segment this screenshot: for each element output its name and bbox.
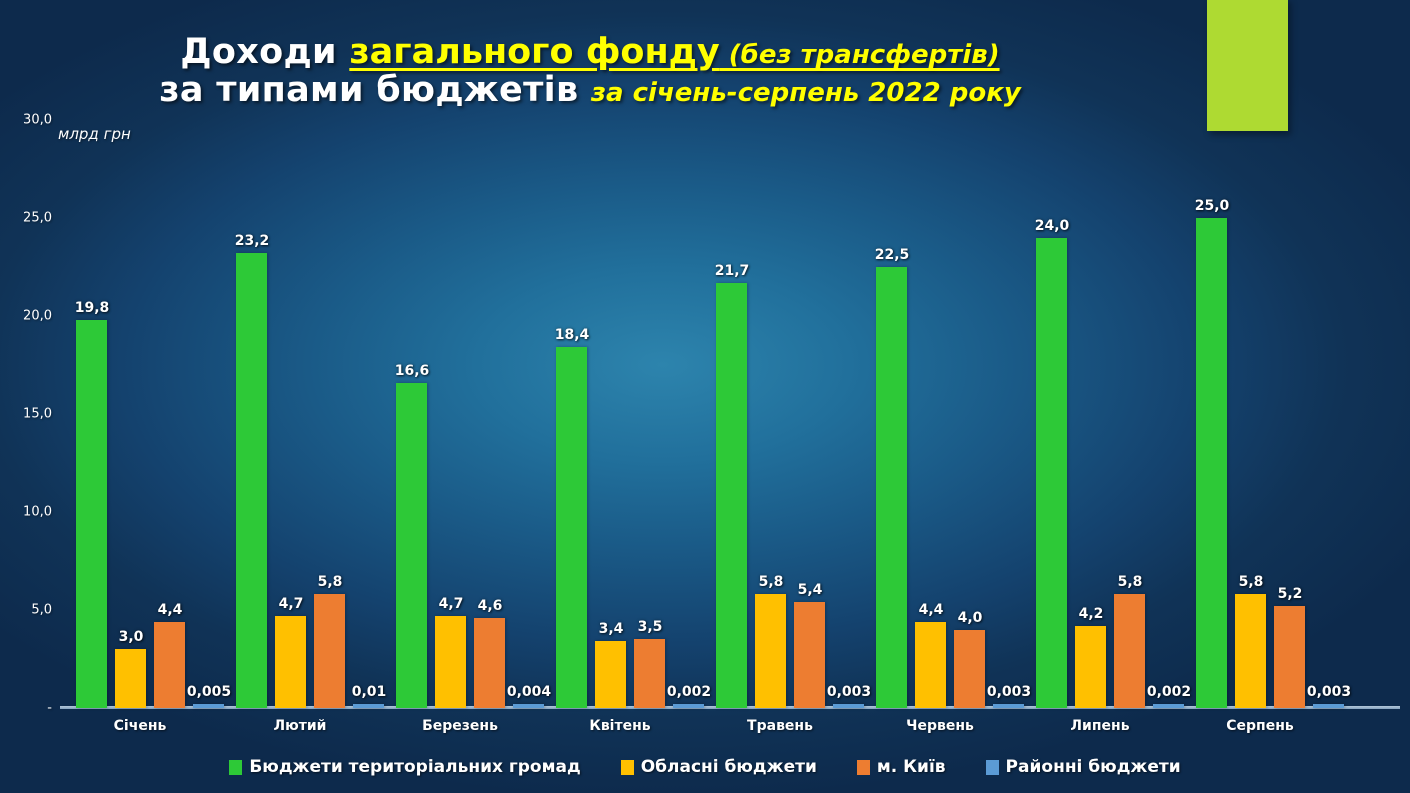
y-axis-tick-label: - — [47, 701, 52, 716]
bar-hromady[interactable] — [876, 267, 907, 708]
bar-value-label: 23,2 — [212, 233, 292, 249]
bar-value-label: 19,8 — [52, 300, 132, 316]
bar-hromady[interactable] — [556, 347, 587, 708]
bar-value-label: 5,4 — [770, 582, 850, 598]
x-axis-label-8: Серпень — [1180, 718, 1340, 734]
legend-label: м. Київ — [877, 757, 946, 777]
bar-group: 25,05,85,20,003 — [1190, 120, 1350, 708]
bar-value-label: 22,5 — [852, 247, 932, 263]
bar-raionni[interactable] — [513, 704, 544, 708]
legend-item-3[interactable]: м. Київ — [857, 757, 946, 777]
bar-oblasni[interactable] — [275, 616, 306, 708]
bar-value-label: 3,5 — [610, 619, 690, 635]
bar-raionni[interactable] — [993, 704, 1024, 708]
x-axis-label-7: Липень — [1020, 718, 1180, 734]
title-text-primary: Доходи — [180, 32, 349, 72]
legend-swatch-icon — [229, 760, 242, 775]
bar-hromady[interactable] — [236, 253, 267, 708]
slide-canvas: Доходи загального фонду (без трансфертів… — [0, 0, 1410, 793]
bar-raionni[interactable] — [1313, 704, 1344, 708]
bar-group: 23,24,75,80,01 — [230, 120, 390, 708]
legend-label: Обласні бюджети — [641, 757, 817, 777]
bar-raionni[interactable] — [673, 704, 704, 708]
chart-title: Доходи загального фонду (без трансфертів… — [0, 34, 1180, 110]
bar-value-label: 21,7 — [692, 263, 772, 279]
x-axis-label-4: Квітень — [540, 718, 700, 734]
legend-swatch-icon — [986, 760, 999, 775]
bar-value-label: 5,8 — [1090, 574, 1170, 590]
plot-area: 19,83,04,40,00523,24,75,80,0116,64,74,60… — [60, 120, 1400, 708]
title-text-note: (без трансфертів) — [720, 40, 1000, 70]
legend-label: Районні бюджети — [1006, 757, 1181, 777]
bar-value-label: 5,8 — [290, 574, 370, 590]
bar-value-label: 18,4 — [532, 327, 612, 343]
bar-oblasni[interactable] — [595, 641, 626, 708]
bar-value-label: 25,0 — [1172, 198, 1252, 214]
bar-value-label: 0,003 — [1289, 684, 1369, 700]
title-text-secondary: за типами бюджетів — [159, 70, 591, 110]
bar-raionni[interactable] — [193, 704, 224, 708]
legend-swatch-icon — [857, 760, 870, 775]
bar-oblasni[interactable] — [915, 622, 946, 708]
legend-label: Бюджети територіальних громад — [249, 757, 580, 777]
bar-value-label: 4,0 — [930, 610, 1010, 626]
legend-item-1[interactable]: Бюджети територіальних громад — [229, 757, 580, 777]
title-line-1: Доходи загального фонду (без трансфертів… — [0, 34, 1180, 72]
x-axis-label-5: Травень — [700, 718, 860, 734]
title-text-period: за січень-серпень 2022 року — [591, 78, 1021, 108]
bar-oblasni[interactable] — [435, 616, 466, 708]
x-axis-label-3: Березень — [380, 718, 540, 734]
bar-hromady[interactable] — [1036, 238, 1067, 708]
bar-oblasni[interactable] — [115, 649, 146, 708]
y-axis-tick-label: 15,0 — [23, 407, 52, 422]
bar-oblasni[interactable] — [1235, 594, 1266, 708]
legend-item-4[interactable]: Районні бюджети — [986, 757, 1181, 777]
bar-oblasni[interactable] — [1075, 626, 1106, 708]
bar-value-label: 5,2 — [1250, 586, 1330, 602]
y-axis-tick-label: 25,0 — [23, 211, 52, 226]
bar-hromady[interactable] — [716, 283, 747, 708]
bar-group: 24,04,25,80,002 — [1030, 120, 1190, 708]
x-axis-label-6: Червень — [860, 718, 1020, 734]
bar-group: 18,43,43,50,002 — [550, 120, 710, 708]
bar-value-label: 4,6 — [450, 598, 530, 614]
bar-hromady[interactable] — [76, 320, 107, 708]
title-text-highlight: загального фонду — [349, 32, 719, 72]
y-axis-tick-label: 20,0 — [23, 309, 52, 324]
bar-group: 21,75,85,40,003 — [710, 120, 870, 708]
bar-hromady[interactable] — [396, 383, 427, 708]
bar-raionni[interactable] — [833, 704, 864, 708]
bar-hromady[interactable] — [1196, 218, 1227, 708]
bar-group: 19,83,04,40,005 — [70, 120, 230, 708]
legend-item-2[interactable]: Обласні бюджети — [621, 757, 817, 777]
bar-raionni[interactable] — [1153, 704, 1184, 708]
chart-legend: Бюджети територіальних громадОбласні бюд… — [0, 757, 1410, 777]
x-axis-label-1: Січень — [60, 718, 220, 734]
bar-value-label: 24,0 — [1012, 218, 1092, 234]
decorative-accent-block — [1207, 0, 1288, 131]
y-axis-tick-label: 10,0 — [23, 505, 52, 520]
bar-oblasni[interactable] — [755, 594, 786, 708]
bar-value-label: 4,4 — [130, 602, 210, 618]
y-axis-tick-label: 5,0 — [31, 603, 52, 618]
bar-raionni[interactable] — [353, 704, 384, 708]
y-axis-tick-label: 30,0 — [23, 113, 52, 128]
y-axis: 30,025,020,015,010,05,0- — [4, 108, 52, 715]
x-axis-category-labels: СіченьЛютийБерезеньКвітеньТравеньЧервень… — [60, 718, 1400, 746]
legend-swatch-icon — [621, 760, 634, 775]
x-axis-label-2: Лютий — [220, 718, 380, 734]
bar-group: 22,54,44,00,003 — [870, 120, 1030, 708]
bar-value-label: 16,6 — [372, 363, 452, 379]
bar-group: 16,64,74,60,004 — [390, 120, 550, 708]
title-line-2: за типами бюджетів за січень-серпень 202… — [0, 72, 1180, 110]
